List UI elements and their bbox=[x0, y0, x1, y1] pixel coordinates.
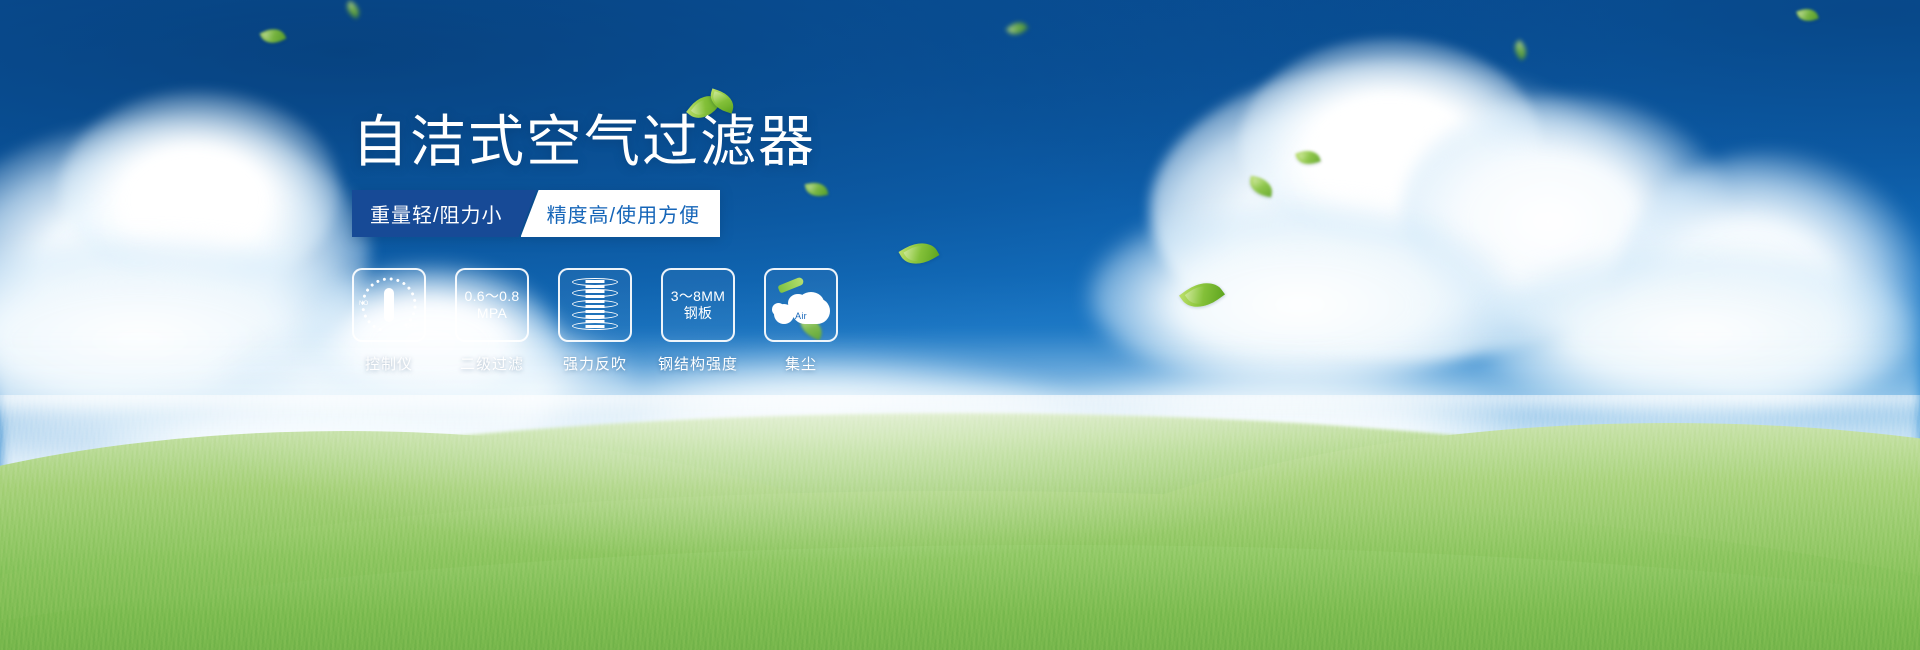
leaf-streak-icon bbox=[777, 276, 804, 293]
steel-plate-text-icon: 3～8MM 钢板 bbox=[671, 288, 725, 323]
feature-label: 强力反吹 bbox=[563, 353, 627, 374]
feature-item-two-stage-filter[interactable]: 0.6～0.8 MPA 二级过滤 bbox=[455, 268, 529, 374]
pressure-text-icon: 0.6～0.8 MPA bbox=[464, 288, 519, 323]
feature-item-dust-collection[interactable]: Air 集尘 bbox=[764, 268, 838, 374]
dust-cloud-icon: Air bbox=[772, 282, 830, 328]
feature-label: 集尘 bbox=[785, 353, 817, 374]
feature-item-steel-strength[interactable]: 3～8MM 钢板 钢结构强度 bbox=[661, 268, 735, 374]
feature-icon-box: NO OFF bbox=[352, 268, 426, 342]
feature-icon-text-line1: 0.6～0.8 bbox=[464, 288, 519, 304]
feature-icon-text-line2: MPA bbox=[464, 305, 519, 323]
gauge-needle bbox=[384, 288, 394, 322]
tagline-left: 重量轻/阻力小 bbox=[352, 190, 537, 237]
cartridge-disc bbox=[572, 322, 618, 330]
feature-label: 钢结构强度 bbox=[658, 353, 738, 374]
product-banner: 自洁式空气过滤器 重量轻/阻力小 精度高/使用方便 bbox=[0, 0, 1920, 650]
cartridge-disc bbox=[572, 278, 618, 286]
cartridge-disc bbox=[572, 300, 618, 308]
gauge-icon: NO OFF bbox=[358, 274, 420, 336]
feature-icon-text-line2: 钢板 bbox=[671, 305, 725, 323]
feature-icon-text-line1: 3～8MM bbox=[671, 288, 725, 304]
cartridge-disc bbox=[572, 311, 618, 319]
feature-item-back-blow[interactable]: 强力反吹 bbox=[558, 268, 632, 374]
page-title: 自洁式空气过滤器 bbox=[352, 114, 816, 170]
tagline-bar: 重量轻/阻力小 精度高/使用方便 bbox=[352, 190, 720, 237]
feature-icon-box bbox=[558, 268, 632, 342]
gauge-label-on: NO bbox=[359, 301, 368, 307]
feature-icon-box: Air bbox=[764, 268, 838, 342]
air-label: Air bbox=[795, 311, 807, 321]
gauge-label-off: OFF bbox=[405, 324, 418, 330]
filter-cartridge-icon bbox=[567, 276, 623, 334]
feature-label: 二级过滤 bbox=[460, 353, 524, 374]
banner-content: 自洁式空气过滤器 重量轻/阻力小 精度高/使用方便 bbox=[0, 0, 1920, 650]
cloud-puff bbox=[772, 303, 785, 316]
feature-label: 控制仪 bbox=[365, 353, 413, 374]
feature-item-controller[interactable]: NO OFF 控制仪 bbox=[352, 268, 426, 374]
cartridge-disc bbox=[572, 289, 618, 297]
feature-icon-box: 0.6～0.8 MPA bbox=[455, 268, 529, 342]
feature-icon-box: 3～8MM 钢板 bbox=[661, 268, 735, 342]
tagline-right: 精度高/使用方便 bbox=[521, 190, 721, 237]
feature-list: NO OFF 控制仪 0.6～0.8 MPA 二级过滤 bbox=[352, 268, 838, 374]
